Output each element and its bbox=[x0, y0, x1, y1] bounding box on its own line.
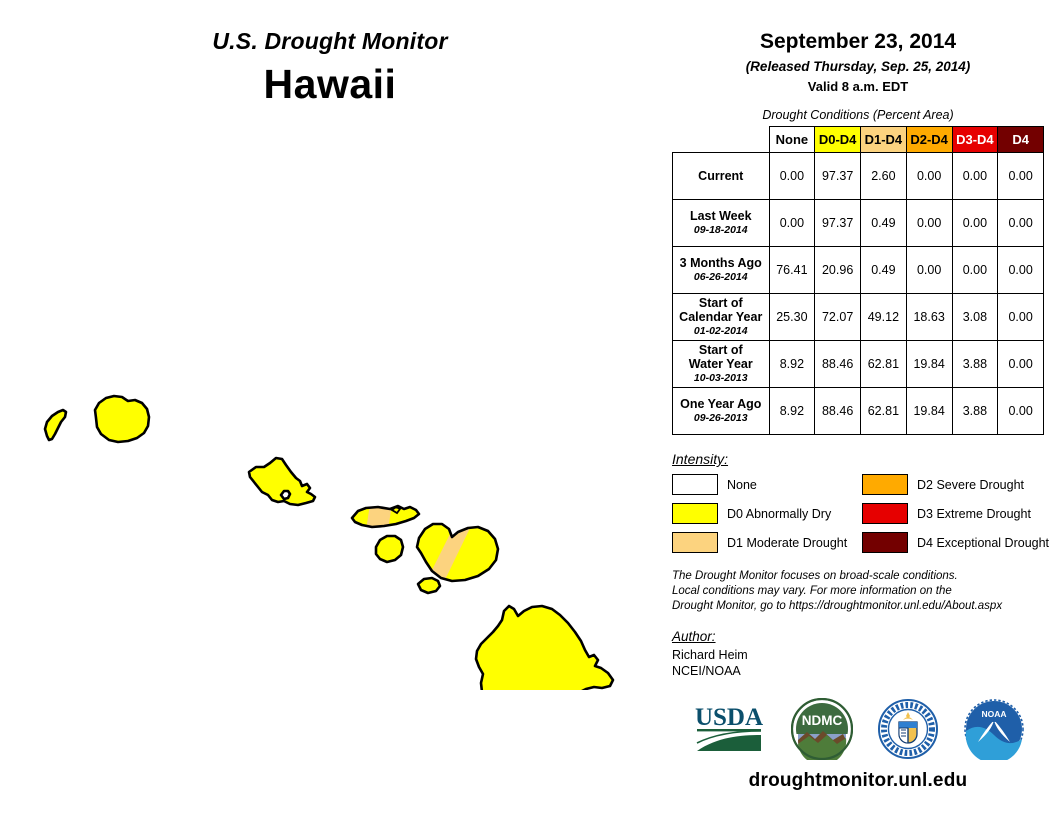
legend-label: D4 Exceptional Drought bbox=[917, 536, 1049, 550]
disclaimer-line-2: Local conditions may vary. For more info… bbox=[672, 584, 1056, 599]
legend-label: D2 Severe Drought bbox=[917, 478, 1024, 492]
legend-grid: NoneD2 Severe DroughtD0 Abnormally DryD3… bbox=[672, 474, 1056, 553]
island-maui bbox=[417, 522, 498, 586]
table-row: 3 Months Ago06-26-201476.4120.960.490.00… bbox=[673, 247, 1044, 294]
table-caption: Drought Conditions (Percent Area) bbox=[660, 108, 1056, 122]
table-cell: 62.81 bbox=[861, 341, 907, 388]
table-header: None D0-D4 D1-D4 D2-D4 D3-D4 D4 bbox=[673, 127, 1044, 153]
island-lanai bbox=[376, 536, 403, 562]
island-kauai bbox=[95, 396, 149, 442]
date-block: September 23, 2014 (Released Thursday, S… bbox=[660, 0, 1056, 94]
island-oahu bbox=[249, 458, 315, 505]
table-cell: 19.84 bbox=[906, 388, 952, 435]
row-label: 3 Months Ago06-26-2014 bbox=[673, 247, 770, 294]
valid-time-line: Valid 8 a.m. EDT bbox=[660, 79, 1056, 94]
site-url: droughtmonitor.unl.edu bbox=[660, 770, 1056, 792]
legend-swatch bbox=[672, 474, 718, 495]
table-cell: 97.37 bbox=[815, 153, 861, 200]
table-row: Current0.0097.372.600.000.000.00 bbox=[673, 153, 1044, 200]
legend-item: D4 Exceptional Drought bbox=[862, 532, 1056, 553]
right-info-panel: September 23, 2014 (Released Thursday, S… bbox=[660, 0, 1056, 816]
drought-conditions-table: None D0-D4 D1-D4 D2-D4 D3-D4 D4 Current0… bbox=[672, 126, 1044, 435]
table-cell: 49.12 bbox=[861, 294, 907, 341]
author-heading: Author: bbox=[672, 629, 1056, 644]
table-cell: 0.00 bbox=[769, 153, 815, 200]
legend-swatch bbox=[862, 532, 908, 553]
release-date: September 23, 2014 bbox=[660, 30, 1056, 54]
row-label-date: 09-18-2014 bbox=[676, 225, 766, 237]
column-header-none: None bbox=[769, 127, 815, 153]
legend-item: D0 Abnormally Dry bbox=[672, 503, 862, 524]
logo-row: USDA NDMC bbox=[660, 698, 1056, 760]
legend-label: D0 Abnormally Dry bbox=[727, 507, 831, 521]
table-cell: 3.88 bbox=[952, 341, 998, 388]
usda-logo: USDA bbox=[691, 699, 767, 759]
legend-label: D1 Moderate Drought bbox=[727, 536, 847, 550]
island-hawaii-big-island bbox=[476, 606, 613, 690]
table-row: One Year Ago09-26-20138.9288.4662.8119.8… bbox=[673, 388, 1044, 435]
svg-text:USDA: USDA bbox=[695, 704, 763, 731]
svg-text:NOAA: NOAA bbox=[981, 709, 1006, 719]
column-header-d3-d4: D3-D4 bbox=[952, 127, 998, 153]
table-cell: 0.00 bbox=[998, 294, 1044, 341]
region-title: Hawaii bbox=[0, 61, 660, 108]
table-cell: 0.00 bbox=[998, 153, 1044, 200]
table-cell: 0.00 bbox=[998, 341, 1044, 388]
disclaimer-line-1: The Drought Monitor focuses on broad-sca… bbox=[672, 569, 1056, 584]
table-cell: 88.46 bbox=[815, 341, 861, 388]
table-cell: 0.00 bbox=[769, 200, 815, 247]
table-cell: 8.92 bbox=[769, 388, 815, 435]
table-header-row: None D0-D4 D1-D4 D2-D4 D3-D4 D4 bbox=[673, 127, 1044, 153]
table-row: Last Week09-18-20140.0097.370.490.000.00… bbox=[673, 200, 1044, 247]
table-cell: 62.81 bbox=[861, 388, 907, 435]
noaa-logo: NOAA bbox=[963, 698, 1025, 760]
legend-label: D3 Extreme Drought bbox=[917, 507, 1031, 521]
legend-item: D2 Severe Drought bbox=[862, 474, 1056, 495]
column-header-d1-d4: D1-D4 bbox=[861, 127, 907, 153]
table-cell: 88.46 bbox=[815, 388, 861, 435]
row-label: Start ofCalendar Year01-02-2014 bbox=[673, 294, 770, 341]
island-kahoolawe bbox=[418, 578, 440, 593]
title-block: U.S. Drought Monitor Hawaii bbox=[0, 28, 660, 108]
table-corner-cell bbox=[673, 127, 770, 153]
svg-text:NDMC: NDMC bbox=[802, 713, 843, 728]
row-label-date: 10-03-2013 bbox=[676, 373, 766, 385]
row-label: Last Week09-18-2014 bbox=[673, 200, 770, 247]
island-molokai bbox=[352, 504, 419, 530]
column-header-d0-d4: D0-D4 bbox=[815, 127, 861, 153]
row-label: Start ofWater Year10-03-2013 bbox=[673, 341, 770, 388]
author-block: Author: Richard Heim NCEI/NOAA bbox=[672, 629, 1056, 681]
legend-item: D3 Extreme Drought bbox=[862, 503, 1056, 524]
row-label-date: 09-26-2013 bbox=[676, 413, 766, 425]
row-label: One Year Ago09-26-2013 bbox=[673, 388, 770, 435]
column-header-d4: D4 bbox=[998, 127, 1044, 153]
table-cell: 0.00 bbox=[952, 153, 998, 200]
island-niihau bbox=[45, 410, 66, 440]
legend-swatch bbox=[862, 503, 908, 524]
table-cell: 0.00 bbox=[952, 200, 998, 247]
legend-item: None bbox=[672, 474, 862, 495]
column-header-d2-d4: D2-D4 bbox=[906, 127, 952, 153]
table-cell: 8.92 bbox=[769, 341, 815, 388]
table-cell: 19.84 bbox=[906, 341, 952, 388]
intensity-legend: Intensity: NoneD2 Severe DroughtD0 Abnor… bbox=[672, 451, 1056, 553]
table-cell: 0.49 bbox=[861, 247, 907, 294]
row-label-date: 06-26-2014 bbox=[676, 272, 766, 284]
table-cell: 0.00 bbox=[906, 200, 952, 247]
intensity-heading: Intensity: bbox=[672, 451, 1056, 467]
program-title: U.S. Drought Monitor bbox=[0, 28, 660, 55]
table-cell: 2.60 bbox=[861, 153, 907, 200]
legend-swatch bbox=[862, 474, 908, 495]
table-cell: 3.88 bbox=[952, 388, 998, 435]
table-cell: 0.00 bbox=[906, 153, 952, 200]
hawaii-drought-map bbox=[0, 120, 660, 690]
row-label-date: 01-02-2014 bbox=[676, 326, 766, 338]
table-cell: 0.00 bbox=[906, 247, 952, 294]
table-row: Start ofWater Year10-03-20138.9288.4662.… bbox=[673, 341, 1044, 388]
released-on-line: (Released Thursday, Sep. 25, 2014) bbox=[660, 59, 1056, 74]
table-body: Current0.0097.372.600.000.000.00Last Wee… bbox=[673, 153, 1044, 435]
disclaimer-text: The Drought Monitor focuses on broad-sca… bbox=[672, 569, 1056, 615]
table-cell: 3.08 bbox=[952, 294, 998, 341]
legend-item: D1 Moderate Drought bbox=[672, 532, 862, 553]
author-affiliation: NCEI/NOAA bbox=[672, 663, 1056, 680]
table-cell: 97.37 bbox=[815, 200, 861, 247]
legend-swatch bbox=[672, 503, 718, 524]
row-label: Current bbox=[673, 153, 770, 200]
table-cell: 76.41 bbox=[769, 247, 815, 294]
commerce-seal-logo bbox=[877, 698, 939, 760]
table-cell: 25.30 bbox=[769, 294, 815, 341]
table-cell: 0.00 bbox=[998, 388, 1044, 435]
table-cell: 0.49 bbox=[861, 200, 907, 247]
disclaimer-line-3: Drought Monitor, go to https://droughtmo… bbox=[672, 599, 1056, 614]
legend-swatch bbox=[672, 532, 718, 553]
table-cell: 0.00 bbox=[952, 247, 998, 294]
table-cell: 20.96 bbox=[815, 247, 861, 294]
table-row: Start ofCalendar Year01-02-201425.3072.0… bbox=[673, 294, 1044, 341]
table-cell: 18.63 bbox=[906, 294, 952, 341]
table-cell: 0.00 bbox=[998, 200, 1044, 247]
table-cell: 72.07 bbox=[815, 294, 861, 341]
table-cell: 0.00 bbox=[998, 247, 1044, 294]
ndmc-logo: NDMC bbox=[791, 698, 853, 760]
author-name: Richard Heim bbox=[672, 647, 1056, 664]
legend-label: None bbox=[727, 478, 757, 492]
